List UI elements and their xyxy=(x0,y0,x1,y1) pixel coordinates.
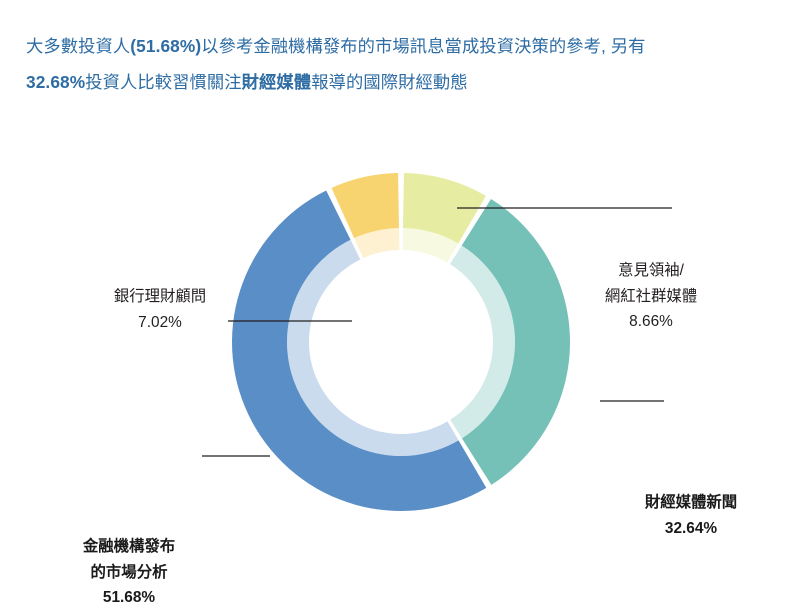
headline-seg-emphasis: 財經媒體 xyxy=(242,72,312,92)
callout-line: 的市場分析 xyxy=(36,560,222,586)
headline-line-2: 32.68%投資人比較習慣關注財經媒體報導的國際財經動態 xyxy=(26,64,774,100)
callout-label-financial-media-news: 財經媒體新聞 32.64% xyxy=(596,490,786,541)
callout-line: 網紅社群媒體 xyxy=(548,284,754,310)
headline-seg-emphasis: 32.68% xyxy=(26,72,85,92)
donut-slice-outer xyxy=(462,199,570,485)
callout-value: 8.66% xyxy=(548,309,754,335)
callout-line: 銀行理財顧問 xyxy=(58,284,262,310)
callout-label-opinion-leaders: 意見領袖/ 網紅社群媒體 8.66% xyxy=(548,258,754,335)
headline-seg: 報導的國際財經動態 xyxy=(311,72,467,92)
callout-value: 32.64% xyxy=(596,516,786,542)
slide-canvas: 大多數投資人(51.68%)以參考金融機構發布的市場訊息當成投資決策的參考, 另… xyxy=(0,0,792,580)
donut-slices xyxy=(232,173,570,511)
callout-label-bank-advisor: 銀行理財顧問 7.02% xyxy=(58,284,262,335)
callout-line: 財經媒體新聞 xyxy=(596,490,786,516)
headline-seg: 以參考金融機構發布的市場訊息當成投資決策的參考, 另有 xyxy=(201,36,645,56)
headline-line-1: 大多數投資人(51.68%)以參考金融機構發布的市場訊息當成投資決策的參考, 另… xyxy=(26,28,774,64)
callout-label-institution-analysis: 金融機構發布 的市場分析 51.68% xyxy=(36,534,222,611)
headline-seg: 投資人比較習慣關注 xyxy=(85,72,241,92)
headline-seg-emphasis: (51.68%) xyxy=(130,36,201,56)
callout-line: 金融機構發布 xyxy=(36,534,222,560)
page-title: 大多數投資人(51.68%)以參考金融機構發布的市場訊息當成投資決策的參考, 另… xyxy=(26,28,774,100)
callout-value: 51.68% xyxy=(36,585,222,611)
callout-value: 7.02% xyxy=(58,310,262,336)
headline-seg: 大多數投資人 xyxy=(26,36,130,56)
callout-line: 意見領袖/ xyxy=(548,258,754,284)
donut-chart: 意見領袖/ 網紅社群媒體 8.66% 銀行理財顧問 7.02% 財經媒體新聞 3… xyxy=(0,118,792,580)
